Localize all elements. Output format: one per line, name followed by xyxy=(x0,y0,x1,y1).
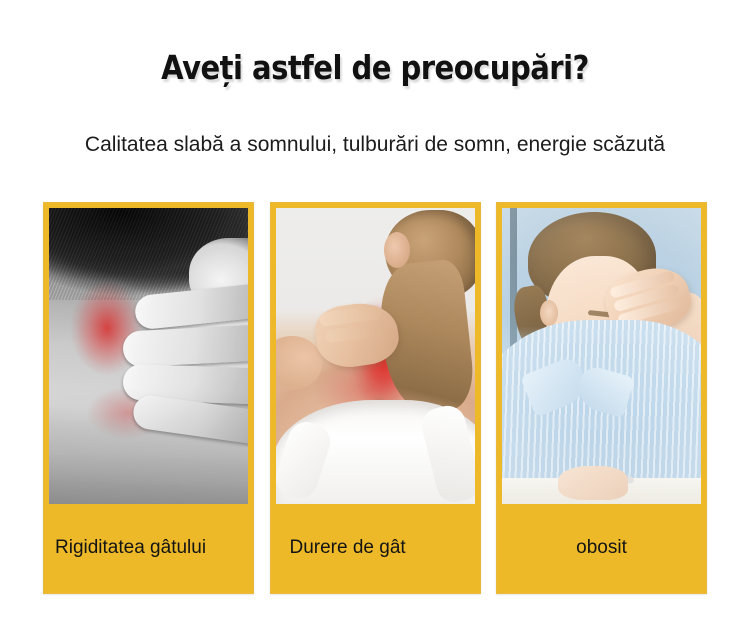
symptom-card-caption: Rigiditatea gâtului xyxy=(49,504,248,593)
symptom-card-fatigue[interactable]: obosit xyxy=(496,202,707,594)
fatigue-photo xyxy=(502,208,701,504)
symptom-card-caption: Durere de gât xyxy=(276,504,475,593)
symptom-card-neck-stiffness[interactable]: Rigiditatea gâtului xyxy=(43,202,254,594)
symptom-card-caption: obosit xyxy=(502,504,701,593)
promo-banner: Aveți astfel de preocupări? Calitatea sl… xyxy=(0,0,750,620)
page-title: Aveți astfel de preocupări? xyxy=(45,48,705,87)
symptom-card-neck-pain[interactable]: Durere de gât xyxy=(270,202,481,594)
neck-stiffness-photo xyxy=(49,208,248,504)
page-subtitle: Calitatea slabă a somnului, tulburări de… xyxy=(0,133,750,157)
symptom-card-row: Rigiditatea gâtului Durere de gât xyxy=(43,202,707,594)
neck-pain-photo xyxy=(276,208,475,504)
